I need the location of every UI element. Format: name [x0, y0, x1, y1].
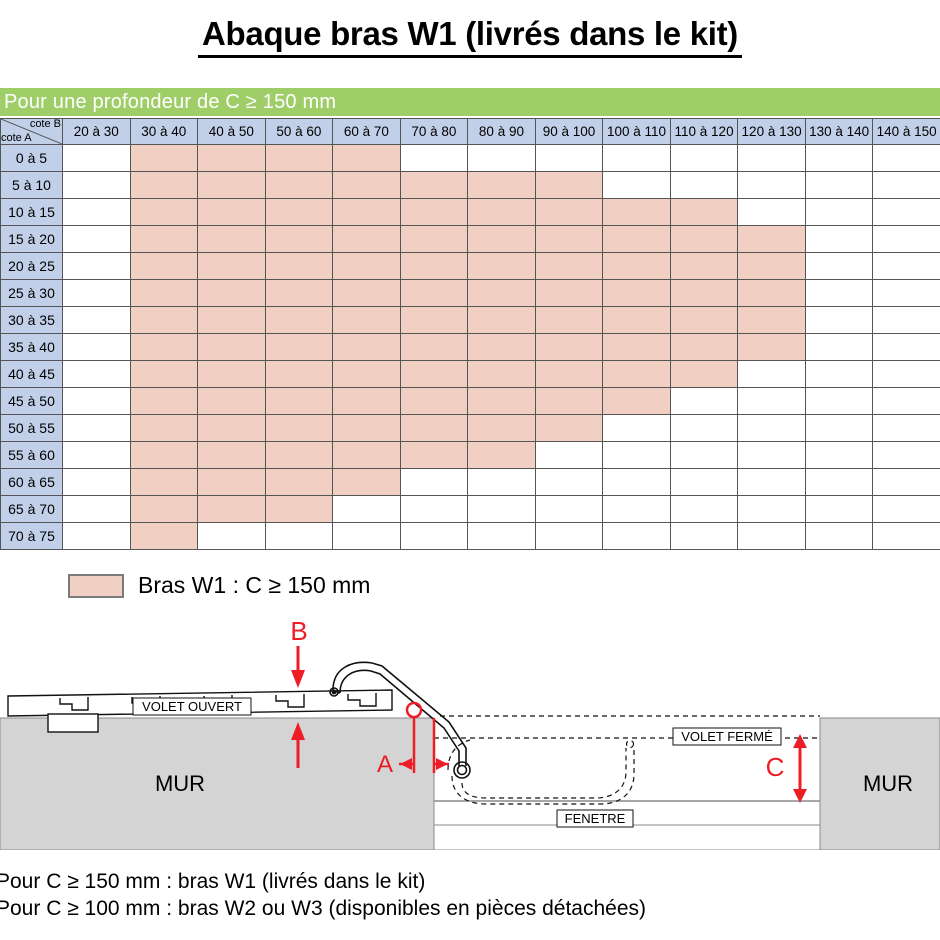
matrix-cell: [333, 361, 401, 388]
column-header-9: 110 à 120: [670, 119, 738, 145]
matrix-cell: [805, 523, 873, 550]
matrix-cell: [198, 469, 266, 496]
axis-corner-cell: cote B cote A: [1, 119, 63, 145]
matrix-cell: [63, 172, 131, 199]
matrix-cell: [130, 388, 198, 415]
matrix-cell: [738, 523, 806, 550]
matrix-cell: [603, 226, 671, 253]
matrix-cell: [130, 442, 198, 469]
matrix-cell: [400, 145, 468, 172]
matrix-cell: [873, 307, 940, 334]
matrix-cell: [805, 361, 873, 388]
matrix-cell: [130, 145, 198, 172]
matrix-cell: [805, 307, 873, 334]
column-header-10: 120 à 130: [738, 119, 806, 145]
matrix-cell: [198, 253, 266, 280]
matrix-cell: [468, 523, 536, 550]
row-header-8: 40 à 45: [1, 361, 63, 388]
footnotes: Pour C ≥ 150 mm : bras W1 (livrés dans l…: [0, 868, 940, 922]
table-header-row: cote B cote A 20 à 3030 à 4040 à 5050 à …: [1, 119, 940, 145]
matrix-cell: [670, 469, 738, 496]
matrix-cell: [265, 334, 333, 361]
dimension-c: [793, 734, 807, 803]
matrix-cell: [130, 172, 198, 199]
depth-condition-band: Pour une profondeur de C ≥ 150 mm: [0, 88, 940, 116]
matrix-cell: [670, 145, 738, 172]
matrix-cell: [805, 496, 873, 523]
matrix-cell: [805, 199, 873, 226]
matrix-cell: [63, 496, 131, 523]
matrix-cell: [333, 442, 401, 469]
matrix-cell: [333, 253, 401, 280]
matrix-cell: [130, 496, 198, 523]
matrix-cell: [738, 172, 806, 199]
matrix-cell: [873, 388, 940, 415]
abaque-matrix-table: cote B cote A 20 à 3030 à 4040 à 5050 à …: [0, 118, 940, 550]
table-row: 10 à 15: [1, 199, 940, 226]
matrix-cell: [738, 307, 806, 334]
table-row: 40 à 45: [1, 361, 940, 388]
matrix-cell: [400, 496, 468, 523]
table-row: 70 à 75: [1, 523, 940, 550]
footnote-w1: Pour C ≥ 150 mm : bras W1 (livrés dans l…: [0, 868, 940, 895]
volet-ouvert-label-box: VOLET OUVERT: [133, 698, 251, 715]
column-header-0: 20 à 30: [63, 119, 131, 145]
matrix-cell: [468, 415, 536, 442]
fenetre-label: FENETRE: [565, 811, 626, 826]
matrix-cell: [130, 307, 198, 334]
matrix-cell: [603, 145, 671, 172]
matrix-cell: [873, 442, 940, 469]
matrix-cell: [535, 388, 603, 415]
table-row: 15 à 20: [1, 226, 940, 253]
table-row: 0 à 5: [1, 145, 940, 172]
matrix-cell: [333, 388, 401, 415]
volet-ferme-label: VOLET FERMÉ: [681, 729, 773, 744]
matrix-cell: [63, 388, 131, 415]
matrix-cell: [603, 469, 671, 496]
matrix-cell: [333, 415, 401, 442]
matrix-cell: [130, 523, 198, 550]
axis-label-cote-b: cote B: [30, 119, 61, 131]
matrix-cell: [333, 496, 401, 523]
matrix-cell: [265, 442, 333, 469]
matrix-cell: [265, 307, 333, 334]
matrix-cell: [670, 226, 738, 253]
matrix-cell: [198, 496, 266, 523]
matrix-cell: [805, 334, 873, 361]
matrix-cell: [130, 334, 198, 361]
matrix-cell: [468, 307, 536, 334]
matrix-cell: [670, 280, 738, 307]
matrix-cell: [198, 145, 266, 172]
matrix-cell: [738, 496, 806, 523]
matrix-cell: [670, 361, 738, 388]
row-header-12: 60 à 65: [1, 469, 63, 496]
matrix-cell: [738, 226, 806, 253]
matrix-cell: [333, 226, 401, 253]
matrix-cell: [603, 253, 671, 280]
matrix-cell: [535, 496, 603, 523]
table-row: 5 à 10: [1, 172, 940, 199]
column-header-8: 100 à 110: [603, 119, 671, 145]
matrix-cell: [130, 199, 198, 226]
matrix-cell: [603, 361, 671, 388]
matrix-cell: [265, 415, 333, 442]
table-row: 30 à 35: [1, 307, 940, 334]
matrix-cell: [130, 226, 198, 253]
table-row: 50 à 55: [1, 415, 940, 442]
matrix-cell: [400, 415, 468, 442]
row-header-13: 65 à 70: [1, 496, 63, 523]
matrix-cell: [603, 172, 671, 199]
matrix-cell: [738, 199, 806, 226]
matrix-cell: [468, 226, 536, 253]
matrix-cell: [265, 145, 333, 172]
row-header-1: 5 à 10: [1, 172, 63, 199]
column-header-7: 90 à 100: [535, 119, 603, 145]
matrix-cell: [535, 280, 603, 307]
matrix-cell: [873, 361, 940, 388]
matrix-cell: [873, 199, 940, 226]
table-row: 20 à 25: [1, 253, 940, 280]
dimension-b-label: B: [290, 618, 307, 646]
matrix-cell: [738, 442, 806, 469]
column-header-5: 70 à 80: [400, 119, 468, 145]
matrix-cell: [198, 172, 266, 199]
matrix-cell: [265, 280, 333, 307]
matrix-cell: [670, 334, 738, 361]
legend-swatch-bras-w1: [68, 574, 124, 598]
matrix-cell: [468, 253, 536, 280]
matrix-cell: [63, 415, 131, 442]
matrix-cell: [400, 388, 468, 415]
matrix-cell: [265, 199, 333, 226]
matrix-cell: [400, 280, 468, 307]
matrix-cell: [130, 469, 198, 496]
matrix-cell: [873, 334, 940, 361]
table-row: 45 à 50: [1, 388, 940, 415]
matrix-cell: [400, 442, 468, 469]
matrix-cell: [400, 307, 468, 334]
row-header-7: 35 à 40: [1, 334, 63, 361]
matrix-cell: [805, 280, 873, 307]
matrix-cell: [468, 172, 536, 199]
matrix-cell: [63, 361, 131, 388]
matrix-cell: [265, 523, 333, 550]
matrix-cell: [400, 172, 468, 199]
column-header-4: 60 à 70: [333, 119, 401, 145]
matrix-cell: [333, 334, 401, 361]
matrix-cell: [873, 172, 940, 199]
matrix-cell: [805, 388, 873, 415]
matrix-cell: [670, 523, 738, 550]
matrix-cell: [805, 415, 873, 442]
row-header-9: 45 à 50: [1, 388, 63, 415]
dimension-a-label: A: [377, 751, 393, 778]
matrix-cell: [468, 145, 536, 172]
matrix-cell: [468, 199, 536, 226]
matrix-cell: [535, 523, 603, 550]
matrix-cell: [805, 469, 873, 496]
matrix-cell: [265, 388, 333, 415]
column-header-6: 80 à 90: [468, 119, 536, 145]
matrix-cell: [400, 226, 468, 253]
matrix-cell: [468, 496, 536, 523]
table-row: 25 à 30: [1, 280, 940, 307]
row-header-4: 20 à 25: [1, 253, 63, 280]
installation-diagram: VOLET OUVERT VOLET FERMÉ: [0, 618, 940, 850]
matrix-cell: [738, 280, 806, 307]
matrix-cell: [63, 469, 131, 496]
matrix-cell: [535, 361, 603, 388]
matrix-cell: [63, 334, 131, 361]
row-header-14: 70 à 75: [1, 523, 63, 550]
matrix-cell: [63, 199, 131, 226]
matrix-cell: [400, 523, 468, 550]
matrix-cell: [130, 361, 198, 388]
matrix-cell: [670, 172, 738, 199]
matrix-cell: [63, 226, 131, 253]
row-header-0: 0 à 5: [1, 145, 63, 172]
matrix-cell: [670, 415, 738, 442]
matrix-cell: [738, 388, 806, 415]
matrix-cell: [63, 145, 131, 172]
mur-left-label: MUR: [155, 771, 205, 796]
matrix-cell: [198, 280, 266, 307]
installation-diagram-svg: VOLET OUVERT VOLET FERMÉ: [0, 618, 940, 850]
matrix-cell: [603, 307, 671, 334]
matrix-cell: [535, 145, 603, 172]
column-header-1: 30 à 40: [130, 119, 198, 145]
matrix-cell: [873, 280, 940, 307]
matrix-cell: [738, 334, 806, 361]
matrix-cell: [333, 199, 401, 226]
matrix-cell: [670, 307, 738, 334]
matrix-cell: [468, 361, 536, 388]
matrix-cell: [603, 334, 671, 361]
matrix-cell: [535, 226, 603, 253]
matrix-cell: [738, 415, 806, 442]
matrix-cell: [535, 469, 603, 496]
matrix-cell: [198, 334, 266, 361]
mur-right-label: MUR: [863, 771, 913, 796]
row-header-2: 10 à 15: [1, 199, 63, 226]
matrix-cell: [265, 226, 333, 253]
matrix-cell: [535, 415, 603, 442]
axis-label-cote-a: cote A: [1, 132, 32, 144]
matrix-cell: [805, 145, 873, 172]
matrix-cell: [603, 388, 671, 415]
row-header-11: 55 à 60: [1, 442, 63, 469]
matrix-cell: [468, 469, 536, 496]
matrix-cell: [670, 253, 738, 280]
row-header-3: 15 à 20: [1, 226, 63, 253]
matrix-cell: [603, 496, 671, 523]
matrix-cell: [468, 280, 536, 307]
matrix-cell: [535, 334, 603, 361]
matrix-cell: [63, 253, 131, 280]
matrix-cell: [535, 307, 603, 334]
matrix-cell: [603, 199, 671, 226]
matrix-cell: [265, 469, 333, 496]
title-bar: Abaque bras W1 (livrés dans le kit): [0, 0, 940, 72]
matrix-cell: [265, 496, 333, 523]
matrix-cell: [468, 388, 536, 415]
matrix-cell: [670, 388, 738, 415]
column-header-12: 140 à 150: [873, 119, 940, 145]
matrix-cell: [873, 415, 940, 442]
matrix-cell: [670, 199, 738, 226]
window-sill-band: [434, 825, 820, 850]
matrix-cell: [873, 469, 940, 496]
matrix-cell: [333, 280, 401, 307]
matrix-cell: [63, 442, 131, 469]
matrix-cell: [873, 145, 940, 172]
matrix-cell: [198, 226, 266, 253]
matrix-cell: [333, 307, 401, 334]
row-header-10: 50 à 55: [1, 415, 63, 442]
matrix-cell: [265, 172, 333, 199]
matrix-cell: [670, 496, 738, 523]
matrix-cell: [535, 253, 603, 280]
matrix-cell: [130, 253, 198, 280]
matrix-cell: [805, 253, 873, 280]
matrix-cell: [198, 361, 266, 388]
matrix-cell: [535, 199, 603, 226]
matrix-cell: [400, 361, 468, 388]
matrix-cell: [198, 415, 266, 442]
column-header-3: 50 à 60: [265, 119, 333, 145]
matrix-cell: [63, 523, 131, 550]
matrix-cell: [738, 145, 806, 172]
matrix-cell: [738, 253, 806, 280]
matrix-cell: [333, 469, 401, 496]
matrix-cell: [873, 496, 940, 523]
row-header-6: 30 à 35: [1, 307, 63, 334]
matrix-cell: [265, 253, 333, 280]
matrix-cell: [198, 523, 266, 550]
matrix-cell: [198, 199, 266, 226]
column-header-11: 130 à 140: [805, 119, 873, 145]
matrix-cell: [265, 361, 333, 388]
footnote-w2-w3: Pour C ≥ 100 mm : bras W2 ou W3 (disponi…: [0, 895, 940, 922]
matrix-cell: [603, 280, 671, 307]
wall-left-block: [0, 718, 434, 850]
dimension-c-label: C: [766, 752, 785, 782]
matrix-cell: [333, 172, 401, 199]
matrix-cell: [400, 199, 468, 226]
matrix-cell: [468, 334, 536, 361]
matrix-cell: [333, 523, 401, 550]
matrix-cell: [670, 442, 738, 469]
matrix-cell: [400, 334, 468, 361]
table-row: 55 à 60: [1, 442, 940, 469]
matrix-cell: [603, 415, 671, 442]
table-row: 60 à 65: [1, 469, 940, 496]
matrix-cell: [603, 442, 671, 469]
volet-ferme-label-box: VOLET FERMÉ: [673, 728, 781, 745]
matrix-cell: [873, 253, 940, 280]
table-row: 35 à 40: [1, 334, 940, 361]
matrix-cell: [738, 361, 806, 388]
matrix-cell: [333, 145, 401, 172]
matrix-cell: [738, 469, 806, 496]
depth-condition-label: Pour une profondeur de C ≥ 150 mm: [4, 91, 336, 114]
matrix-cell: [63, 280, 131, 307]
table-row: 65 à 70: [1, 496, 940, 523]
matrix-cell: [603, 523, 671, 550]
page-title: Abaque bras W1 (livrés dans le kit): [198, 15, 742, 58]
matrix-cell: [873, 226, 940, 253]
row-header-5: 25 à 30: [1, 280, 63, 307]
column-header-2: 40 à 50: [198, 119, 266, 145]
legend-label-bras-w1: Bras W1 : C ≥ 150 mm: [138, 572, 370, 599]
matrix-cell: [130, 280, 198, 307]
matrix-cell: [873, 523, 940, 550]
fenetre-label-box: FENETRE: [557, 810, 633, 827]
matrix-cell: [805, 442, 873, 469]
volet-ouvert-label: VOLET OUVERT: [142, 699, 242, 714]
legend: Bras W1 : C ≥ 150 mm: [0, 572, 940, 599]
matrix-cell: [130, 415, 198, 442]
matrix-cell: [805, 226, 873, 253]
matrix-cell: [198, 388, 266, 415]
matrix-cell: [198, 307, 266, 334]
matrix-cell: [535, 442, 603, 469]
matrix-cell: [63, 307, 131, 334]
matrix-cell: [468, 442, 536, 469]
matrix-cell: [805, 172, 873, 199]
matrix-cell: [400, 253, 468, 280]
matrix-cell: [535, 172, 603, 199]
matrix-cell: [198, 442, 266, 469]
matrix-cell: [400, 469, 468, 496]
